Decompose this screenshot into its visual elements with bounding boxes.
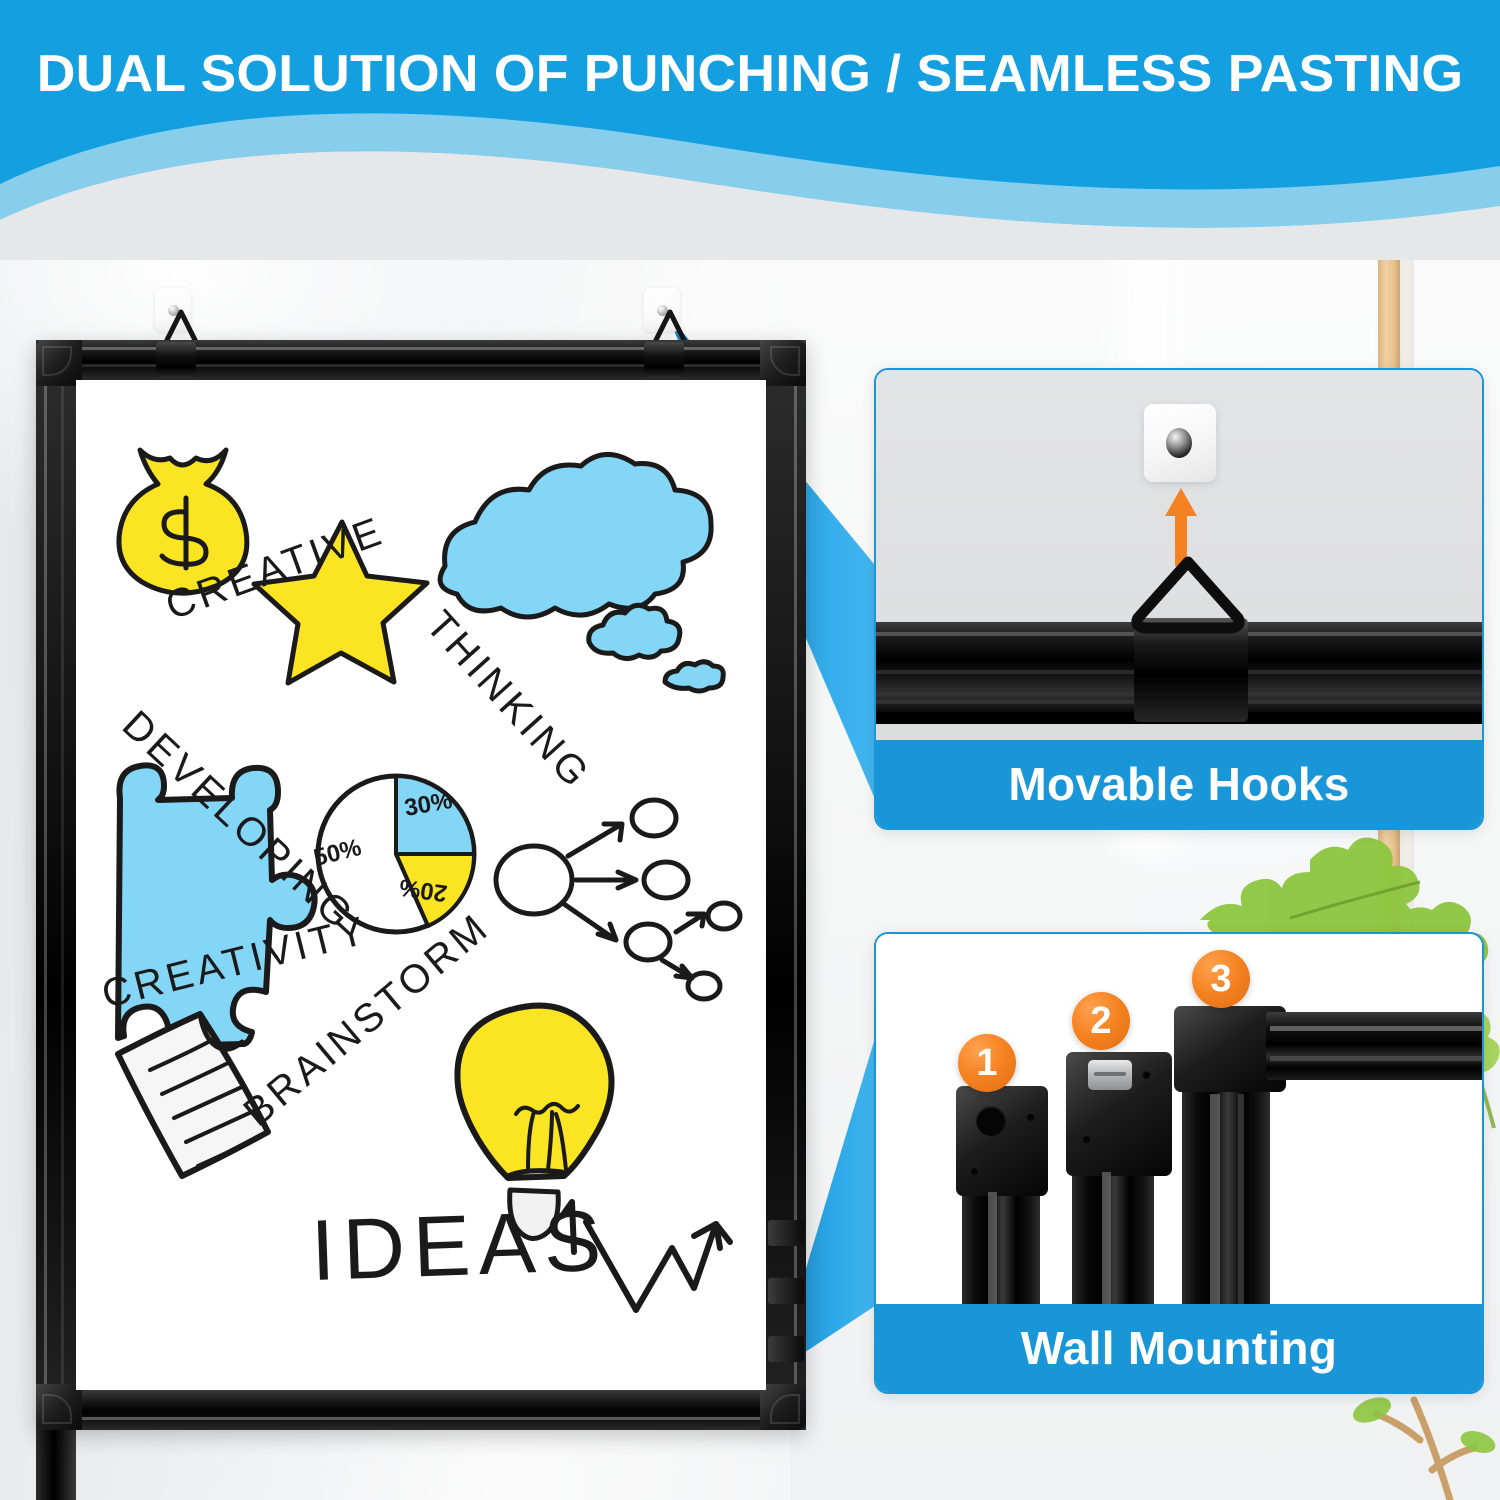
mount-screwhole-2-icon (1142, 1070, 1151, 1079)
frame-rail-top (36, 340, 806, 380)
frame-highlight-left2 (61, 386, 64, 1384)
doodle-word-thinking: THINKING (417, 603, 599, 798)
header-wave-divider (0, 110, 1500, 260)
whiteboard-surface[interactable]: CREATIVE THINKING DEVELOPING CREATIVITY … (76, 380, 766, 1390)
mount-screw-icon (1088, 1060, 1132, 1090)
step-badge-2: 2 (1072, 992, 1130, 1050)
mount-horizontal-arm (1266, 1012, 1482, 1080)
mount-post-1-stripe (988, 1192, 997, 1304)
tray-clip-lower[interactable] (768, 1336, 804, 1362)
screw-slot-icon (1094, 1072, 1126, 1076)
slider-clip-left[interactable] (156, 342, 196, 378)
panel-label-movable-hooks: Movable Hooks (876, 740, 1482, 828)
frame-corner-bottom-right (760, 1384, 806, 1430)
doodle-artwork: CREATIVE THINKING DEVELOPING CREATIVITY … (76, 380, 766, 1390)
mount-arm-highlight2 (1270, 1056, 1482, 1061)
mount-screwhole-1b-icon (970, 1166, 979, 1175)
frame-corner-bottom-left (36, 1384, 82, 1430)
mount-post-3 (1182, 1060, 1270, 1304)
movable-hooks-photo (876, 370, 1482, 740)
hooks-triangle-hanger-icon (1124, 556, 1252, 634)
mount-post-3-stripe2 (1238, 1094, 1244, 1304)
panel-label-wall-mounting: Wall Mounting (876, 1304, 1482, 1392)
panel-wall-mounting[interactable]: 1 2 3 Wall Mounting (874, 932, 1484, 1394)
mount-post-2-stripe (1102, 1172, 1111, 1304)
mount-post-3-stripe (1210, 1094, 1220, 1304)
frame-highlight-bottom (82, 1417, 760, 1420)
cloud-icon (440, 454, 711, 617)
step-badge-1: 1 (958, 1034, 1016, 1092)
mount-arm-highlight (1270, 1026, 1482, 1031)
infographic-canvas: DUAL SOLUTION OF PUNCHING / SEAMLESS PAS… (0, 0, 1500, 1500)
doodle-word-ideas: IDEAS (309, 1193, 610, 1299)
tray-clip-mid[interactable] (768, 1278, 804, 1304)
up-arrow-icon (1164, 488, 1198, 566)
mindmap-icon (496, 800, 740, 999)
frame-rail-bottom (36, 1390, 806, 1430)
cloud-small-icon (589, 605, 680, 658)
whiteboard[interactable]: CREATIVE THINKING DEVELOPING CREATIVITY … (36, 340, 806, 1430)
mount-cap-1 (956, 1086, 1048, 1196)
frame-rail-right (36, 1430, 76, 1500)
frame-highlight-left (44, 386, 47, 1384)
panel-movable-hooks[interactable]: Movable Hooks (874, 368, 1484, 830)
mount-screwhole-2b-icon (1082, 1134, 1091, 1143)
cloud-tiny-icon (665, 662, 723, 691)
hooks-pad-hole-icon (1166, 428, 1192, 458)
wall-mounting-photo: 1 2 3 (876, 934, 1482, 1304)
hooks-adhesive-pad-icon (1144, 404, 1216, 482)
frame-corner-top-right (760, 340, 806, 386)
slider-clip-right[interactable] (644, 342, 684, 378)
step-badge-3: 3 (1192, 950, 1250, 1008)
tray-clip-upper[interactable] (768, 1220, 804, 1246)
mount-screwhole-1-icon (1026, 1112, 1035, 1121)
page-title: DUAL SOLUTION OF PUNCHING / SEAMLESS PAS… (0, 44, 1500, 104)
mount-hole-1-icon (976, 1106, 1006, 1136)
